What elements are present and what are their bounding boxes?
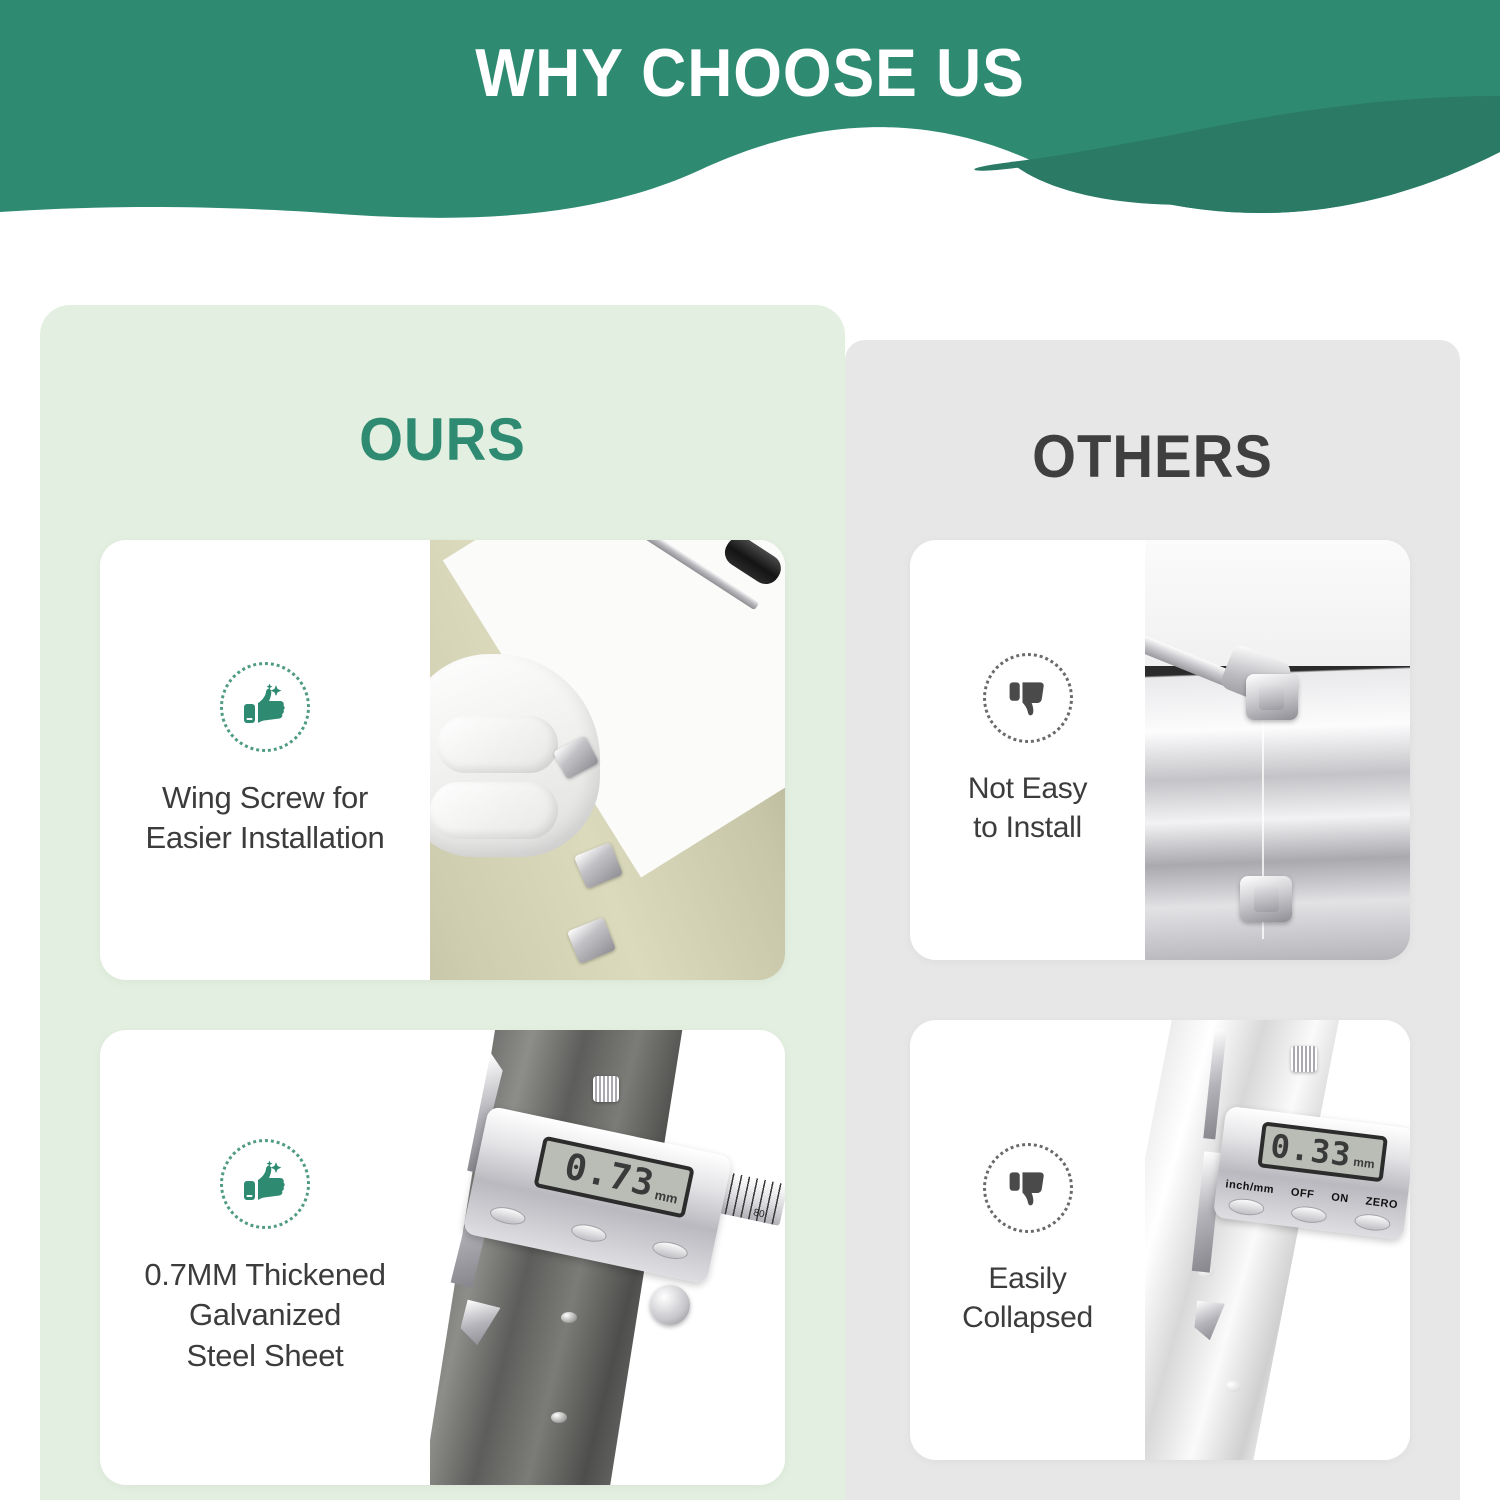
caliper-lock-screw	[593, 1076, 619, 1102]
caliper-button-inch-mm[interactable]	[488, 1205, 527, 1228]
ours-feature-2-text-col: 0.7MM Thickened Galvanized Steel Sheet	[100, 1030, 430, 1485]
thumbs-down-icon	[1005, 1165, 1051, 1211]
ours-panel: OURS Wing Screw for Easier Installation	[40, 305, 845, 1500]
caliper-body: 0.33 mm inch/mm OFF ON ZERO	[1213, 1106, 1410, 1240]
caliper-lcd-screen: 0.73 mm	[533, 1136, 695, 1219]
ours-feature-card-2: 0.7MM Thickened Galvanized Steel Sheet 7…	[100, 1030, 785, 1485]
others-feature-2-label: Easily Collapsed	[962, 1259, 1093, 1337]
others-feature-1-label: Not Easy to Install	[968, 769, 1087, 847]
caliper-lcd-screen: 0.33 mm	[1258, 1121, 1389, 1182]
caliper-label-on: ON	[1331, 1191, 1350, 1205]
white-thin-tube	[1145, 1020, 1347, 1460]
caliper-reading: 0.33	[1269, 1130, 1353, 1172]
tube-rivet-3	[551, 1412, 567, 1423]
glove-finger-1	[437, 716, 558, 773]
caliper-button-onoff[interactable]	[569, 1222, 608, 1245]
thumbs-down-icon-badge	[983, 653, 1073, 743]
thumbs-down-icon-badge-2	[983, 1143, 1073, 1233]
wrench-tightening-bolt-photo	[1145, 540, 1410, 960]
caliper-unit: mm	[653, 1187, 679, 1206]
caliper-lock-screw	[1291, 1046, 1317, 1072]
caliper-button-inch-mm[interactable]	[1228, 1196, 1266, 1216]
others-feature-card-2: Easily Collapsed 0.33 mm inch/mm	[910, 1020, 1410, 1460]
others-feature-1-text-col: Not Easy to Install	[910, 540, 1145, 960]
others-panel: OTHERS Not Easy to Install	[845, 340, 1460, 1500]
caliper-thumb-wheel[interactable]	[650, 1285, 690, 1325]
header-banner: WHY CHOOSE US	[0, 0, 1500, 230]
caliper-button-zero[interactable]	[650, 1239, 689, 1262]
thumbs-up-icon-badge-2	[220, 1139, 310, 1229]
page-title: WHY CHOOSE US	[60, 38, 1440, 109]
caliper-label-off: OFF	[1290, 1186, 1315, 1201]
ours-feature-2-label: 0.7MM Thickened Galvanized Steel Sheet	[144, 1255, 385, 1376]
thumbs-down-icon	[1005, 675, 1051, 721]
tube-rivet-3	[1225, 1381, 1241, 1392]
caliper-measuring-thick-steel-photo: 70 3 80 0.73 mm	[430, 1030, 785, 1485]
hex-bolt-upper	[1246, 674, 1298, 720]
others-feature-2-text-col: Easily Collapsed	[910, 1020, 1145, 1460]
ours-feature-1-text-col: Wing Screw for Easier Installation	[100, 540, 430, 980]
others-feature-card-1: Not Easy to Install	[910, 540, 1410, 960]
scale-number: 80	[752, 1207, 765, 1220]
glove-finger-2	[430, 782, 558, 839]
ours-feature-1-label: Wing Screw for Easier Installation	[146, 778, 385, 859]
thumbs-up-icon	[240, 1159, 290, 1209]
caliper-button-onoff[interactable]	[1291, 1204, 1329, 1224]
thumbs-up-icon	[240, 682, 290, 732]
caliper-label-zero: ZERO	[1365, 1195, 1399, 1211]
hex-bolt-lower	[1240, 876, 1292, 922]
ours-feature-card-1: Wing Screw for Easier Installation	[100, 540, 785, 980]
caliper-unit: mm	[1353, 1155, 1376, 1171]
comparison-section: OURS Wing Screw for Easier Installation	[0, 230, 1500, 1500]
caliper-measuring-thin-steel-photo: 0.33 mm inch/mm OFF ON ZERO	[1145, 1020, 1410, 1460]
caliper-button-zero[interactable]	[1354, 1212, 1392, 1232]
thumbs-up-icon-badge	[220, 662, 310, 752]
others-heading: OTHERS	[863, 422, 1441, 491]
caliper-label-inch-mm: inch/mm	[1225, 1178, 1275, 1196]
gloved-hand-installing-wing-screw-photo	[430, 540, 785, 980]
ours-heading: OURS	[64, 405, 821, 474]
caliper-reading: 0.73	[561, 1149, 657, 1203]
